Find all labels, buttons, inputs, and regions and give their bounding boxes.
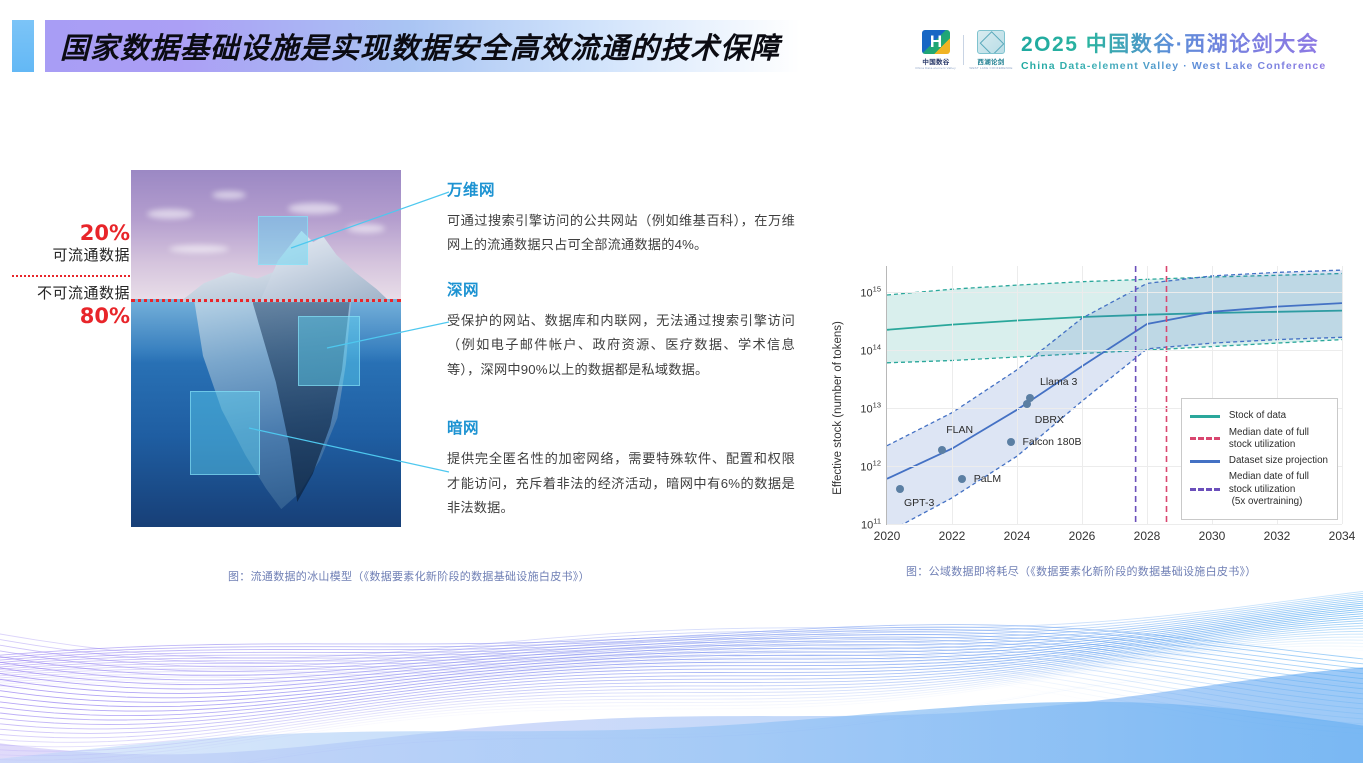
bottom-percent-value: 80% (12, 305, 130, 328)
highlight-box-deep-web (298, 316, 359, 386)
chart-data-point-label: Falcon 180B (1023, 436, 1082, 448)
chart-y-tick: 1014 (860, 343, 881, 358)
logo-wordmark: 2O25 中国数谷·西湖论剑大会 China Data-element Vall… (1021, 28, 1326, 72)
logo-title-en: China Data-element Valley · West Lake Co… (1021, 60, 1326, 72)
chart-legend-item: Median date of full stock utilization (5… (1190, 471, 1328, 508)
chart-legend-label: Stock of data (1229, 410, 1286, 422)
chart-data-point-label: PaLM (974, 473, 1001, 485)
cloud (347, 224, 385, 233)
chart-x-tick: 2024 (1004, 529, 1031, 543)
iceberg-illustration (131, 170, 401, 527)
chart-y-tick: 1012 (860, 459, 881, 474)
chart-legend-item: Dataset size projection (1190, 455, 1328, 467)
section-title: 万维网 (447, 178, 795, 200)
logo-divider (963, 35, 964, 65)
chart-gridline-h (887, 292, 1342, 293)
chart-gridline-v (1342, 266, 1343, 524)
chart-x-tick: 2034 (1329, 529, 1356, 543)
effective-stock-chart: Effective stock (number of tokens) 20202… (838, 258, 1343, 558)
chart-gridline-v (1017, 266, 1018, 524)
chart-y-tick: 1011 (861, 517, 881, 532)
bottom-percent-label: 不可流通数据 (12, 283, 130, 306)
chart-data-point (1007, 438, 1015, 446)
chart-legend-label: Dataset size projection (1229, 455, 1328, 467)
chart-gridline-h (887, 350, 1342, 351)
logo-a-caption: 中国数谷 (922, 56, 949, 66)
cloud (147, 209, 193, 219)
chart-data-point-label: GPT-3 (904, 497, 934, 509)
chart-legend-swatch (1190, 437, 1220, 440)
chart-data-point (896, 485, 904, 493)
logo-title-cn: 2O25 中国数谷·西湖论剑大会 (1021, 28, 1326, 58)
section-body: 可通过搜索引擎访问的公共网站（例如维基百科），在万维网上的流通数据只占可全部流通… (447, 209, 795, 258)
chart-legend: Stock of dataMedian date of full stock u… (1181, 398, 1338, 520)
decorative-wave-graphic (0, 583, 1363, 763)
chart-plot-area: 2020202220242026202820302032203410111012… (886, 266, 1342, 525)
iceberg-percent-legend: 20% 可流通数据 不可流通数据 80% (12, 222, 130, 328)
chart-y-tick: 1013 (860, 401, 881, 416)
page-header: 国家数据基础设施是实现数据安全高效流通的技术保障 中国数谷 China Data… (0, 0, 1363, 92)
logo-a-subcaption: China Data-element Valley (916, 66, 957, 70)
chart-x-tick: 2026 (1069, 529, 1096, 543)
waterline-divider (12, 275, 130, 277)
cloud (212, 191, 246, 199)
chart-x-tick: 2028 (1134, 529, 1161, 543)
chart-x-tick: 2022 (939, 529, 966, 543)
chart-data-point-label: FLAN (946, 424, 973, 436)
waterline-dotted (131, 299, 401, 302)
conference-logo: 中国数谷 China Data-element Valley 西湖论剑 WEST… (918, 26, 1326, 74)
chart-y-tick: 1015 (860, 285, 881, 300)
chart-data-point-label: Llama 3 (1040, 376, 1077, 388)
chart-gridline-v (952, 266, 953, 524)
chart-legend-swatch (1190, 415, 1220, 418)
cloud (169, 245, 229, 253)
chart-y-axis-label: Effective stock (number of tokens) (832, 258, 848, 558)
logo-b-caption: 西湖论剑 (977, 56, 1004, 66)
cloud (288, 203, 340, 214)
chart-data-point (1026, 394, 1034, 402)
chart-legend-item: Stock of data (1190, 410, 1328, 422)
chart-legend-swatch (1190, 488, 1220, 491)
top-percent-label: 可流通数据 (12, 245, 130, 268)
chart-legend-label: Median date of full stock utilization (1229, 427, 1309, 451)
logo-b-subcaption: WEST LAKE CONFERENCE (969, 66, 1012, 70)
highlight-box-dark-web (190, 391, 260, 475)
chart-x-tick: 2030 (1199, 529, 1226, 543)
section-dark-web: 暗网 提供完全匿名性的加密网络，需要特殊软件、配置和权限才能访问，充斥着非法的经… (447, 416, 795, 520)
highlight-box-surface-web (258, 216, 309, 264)
chart-gridline-h (887, 524, 1342, 525)
logo-b-glyph (977, 30, 1005, 54)
section-body: 提供完全匿名性的加密网络，需要特殊软件、配置和权限才能访问，充斥着非法的经济活动… (447, 447, 795, 520)
chart-legend-item: Median date of full stock utilization (1190, 427, 1328, 451)
section-surface-web: 万维网 可通过搜索引擎访问的公共网站（例如维基百科），在万维网上的流通数据只占可… (447, 178, 795, 258)
chart-gridline-v (1147, 266, 1148, 524)
chart-legend-swatch (1190, 460, 1220, 463)
header-accent-bar (12, 20, 34, 72)
section-title: 暗网 (447, 416, 795, 438)
top-percent-value: 20% (12, 222, 130, 245)
chart-legend-label: Median date of full stock utilization (5… (1229, 471, 1309, 508)
chart-data-point-label: DBRX (1035, 414, 1064, 426)
right-figure-caption: 图：公域数据即将耗尽（《数据要素化新阶段的数据基础设施白皮书》） (906, 563, 1257, 579)
section-title: 深网 (447, 278, 795, 300)
logo-a-glyph (922, 30, 950, 54)
explanation-sections: 万维网 可通过搜索引擎访问的公共网站（例如维基百科），在万维网上的流通数据只占可… (447, 178, 795, 540)
chart-data-point (938, 446, 946, 454)
china-data-valley-logo-icon: 中国数谷 China Data-element Valley (918, 30, 954, 70)
left-figure-caption: 图：流通数据的冰山模型（《数据要素化新阶段的数据基础设施白皮书》） (228, 568, 590, 584)
wave-line (0, 599, 1363, 676)
chart-gridline-v (1082, 266, 1083, 524)
west-lake-conference-logo-icon: 西湖论剑 WEST LAKE CONFERENCE (973, 30, 1009, 70)
section-deep-web: 深网 受保护的网站、数据库和内联网，无法通过搜索引擎访问（例如电子邮件帐户、政府… (447, 278, 795, 382)
chart-x-tick: 2032 (1264, 529, 1291, 543)
section-body: 受保护的网站、数据库和内联网，无法通过搜索引擎访问（例如电子邮件帐户、政府资源、… (447, 309, 795, 382)
chart-data-point (958, 475, 966, 483)
page-title: 国家数据基础设施是实现数据安全高效流通的技术保障 (60, 24, 820, 68)
